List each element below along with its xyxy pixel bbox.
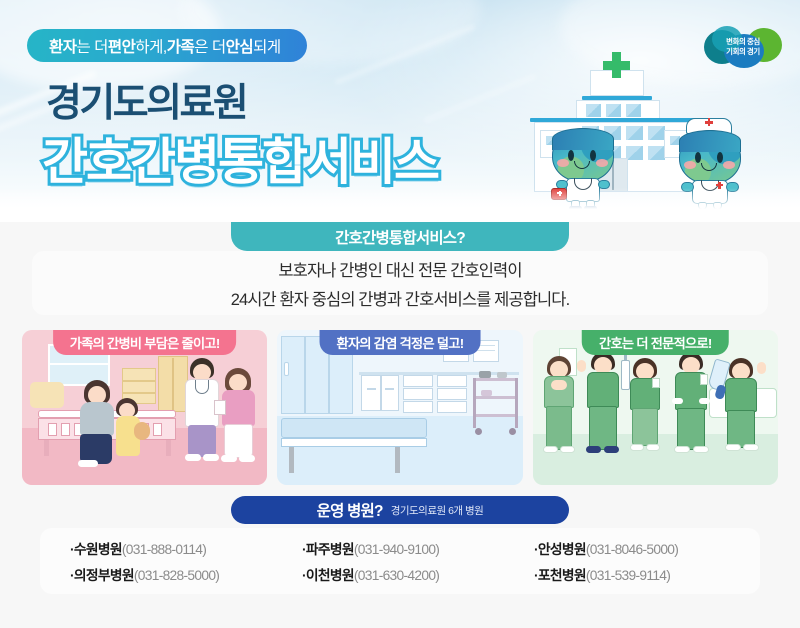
bed-rail-bar xyxy=(48,423,57,436)
description-line-2: 24시간 환자 중심의 간병과 간호서비스를 제공합니다. xyxy=(231,286,570,310)
hospital-column-1: ·수원병원(031-888-0114) ·의정부병원(031-828-5000) xyxy=(52,538,284,584)
tagline-seg-2: 는 더 xyxy=(77,35,108,57)
window-frame xyxy=(48,363,110,365)
bed-mattress xyxy=(281,418,427,438)
cart-item xyxy=(479,371,491,378)
tagline-seg-3: 편안 xyxy=(108,35,136,57)
benefit-panel-infection: 환자의 감염 걱정은 덜고! xyxy=(277,330,522,485)
cabinet-handle xyxy=(367,388,376,390)
panel-caption-professional: 간호는 더 전문적으로! xyxy=(582,330,729,355)
benefit-panels: 가족의 간병비 부담은 줄이고! xyxy=(22,330,778,485)
cabinet-handle xyxy=(385,388,394,390)
mother-shoe xyxy=(78,460,98,467)
hospital-phone: (031-828-5000) xyxy=(134,568,219,583)
service-description: 보호자나 간병인 대신 전문 간호인력이 24시간 환자 중심의 간병과 간호서… xyxy=(32,251,768,315)
mascot-eye xyxy=(695,152,701,163)
nurse-scrub-pants xyxy=(727,410,755,448)
hospital-list: ·수원병원(031-888-0114) ·의정부병원(031-828-5000)… xyxy=(40,528,760,594)
benefit-panel-professional: 간호는 더 전문적으로! xyxy=(533,330,778,485)
hospital-name: ·이천병원 xyxy=(302,568,354,583)
panel-caption-infection: 환자의 감염 걱정은 덜고! xyxy=(320,330,481,355)
building-window xyxy=(606,104,621,117)
mother-body xyxy=(80,402,114,436)
hospitals-subtitle: 경기도의료원 6개 병원 xyxy=(391,503,484,518)
mascot-hair xyxy=(679,130,741,152)
cart-frame xyxy=(473,378,476,428)
mascot-eye xyxy=(717,152,723,163)
benefit-panel-cost: 가족의 간병비 부담은 줄이고! xyxy=(22,330,267,485)
nurse-shoe xyxy=(604,446,619,453)
mascot-hair xyxy=(552,128,614,150)
gyeonggi-province-logo: 변화의 중심 기회의 경기 xyxy=(704,24,782,70)
nurse-shoe xyxy=(543,446,558,453)
nurse-shoe xyxy=(586,446,601,453)
tagline-seg-4: 하게, xyxy=(135,35,166,57)
nurse-face xyxy=(229,374,247,391)
nurse-shoe xyxy=(239,455,255,462)
hero-banner: 환자는 더 편안하게, 가족은 더 안심되게 경기도의료원 간호간병통합서비스 … xyxy=(0,0,800,222)
tagline-seg-8: 되게 xyxy=(253,35,281,57)
bed-leg xyxy=(289,447,294,473)
nurse-scrub-top xyxy=(587,372,619,408)
cart-shelf xyxy=(473,414,517,417)
mascot-cheek xyxy=(684,161,696,169)
window-handle xyxy=(284,362,289,376)
tagline-seg-6: 은 더 xyxy=(194,35,225,57)
mascot-eye xyxy=(568,150,574,161)
cart-item xyxy=(481,390,492,396)
clipboard xyxy=(214,400,226,415)
logo-text: 변화의 중심 기회의 경기 xyxy=(704,24,782,70)
cabinet-line xyxy=(122,392,156,394)
hospitals-title: 운영 병원? xyxy=(317,499,383,521)
doctor-pants xyxy=(188,425,216,457)
mascot-eye xyxy=(590,150,596,161)
nurse-shoe xyxy=(725,444,741,451)
doctor-shoe xyxy=(203,454,219,461)
nurse-hands xyxy=(551,380,567,390)
bed-rail-bar xyxy=(61,423,70,436)
doctor-shoe xyxy=(185,454,201,461)
nurse-scrub-pants xyxy=(589,406,617,450)
description-line-1: 보호자나 간병인 대신 전문 간호인력이 xyxy=(278,257,521,281)
green-cross-icon xyxy=(603,61,630,70)
cart-shelf xyxy=(473,378,517,381)
logo-line-2: 기회의 경기 xyxy=(726,48,760,57)
list-item[interactable]: ·안성병원(031-8046-5000) xyxy=(534,538,748,558)
nurse-scrub-pants xyxy=(677,408,705,450)
nurse-shoe xyxy=(693,446,709,453)
wrist-cuff xyxy=(699,398,710,404)
bed-base xyxy=(281,438,427,447)
operating-hospitals-badge: 운영 병원? 경기도의료원 6개 병원 xyxy=(231,496,569,524)
nurse-shoe xyxy=(560,446,575,453)
nurse-shoe xyxy=(674,446,690,453)
mascot-cheek xyxy=(596,159,608,167)
wrist-cuff xyxy=(672,398,683,404)
hospital-phone: (031-940-9100) xyxy=(354,542,439,557)
organization-name: 경기도의료원 xyxy=(46,72,246,128)
drawer xyxy=(403,388,433,400)
chart-line xyxy=(477,350,495,351)
locker-seam xyxy=(172,358,174,410)
nurse-raised-hand xyxy=(577,360,586,372)
panel-caption-cost: 가족의 간병비 부담은 줄이고! xyxy=(53,330,237,355)
mascot-cheek xyxy=(723,161,735,169)
cart-frame xyxy=(515,378,518,428)
name-badge xyxy=(652,378,660,388)
nurse-raised-hand xyxy=(757,362,766,374)
building-window xyxy=(648,146,665,160)
teddy-bear xyxy=(134,422,150,440)
cabinet-line xyxy=(122,380,156,382)
hospital-column-2: ·파주병원(031-940-9100) ·이천병원(031-630-4200) xyxy=(284,538,516,584)
hospital-phone: (031-630-4200) xyxy=(354,568,439,583)
drawer xyxy=(437,388,467,400)
drawer xyxy=(437,375,467,387)
hospital-name: ·안성병원 xyxy=(534,542,586,557)
nurse-shoe xyxy=(630,444,644,451)
tagline-pill: 환자는 더 편안하게, 가족은 더 안심되게 xyxy=(27,29,307,62)
building-window xyxy=(648,126,665,140)
list-item[interactable]: ·이천병원(031-630-4200) xyxy=(302,564,516,584)
cart-item xyxy=(497,372,507,378)
nurse-scrub-pants xyxy=(546,406,572,450)
building-window xyxy=(626,104,641,117)
nurse-skirt xyxy=(632,408,658,446)
building-window xyxy=(586,104,601,117)
syringe-icon xyxy=(621,360,630,390)
mascot-cheek xyxy=(557,159,569,167)
nurse-shoe xyxy=(221,455,237,462)
bed-leg xyxy=(44,440,49,456)
list-item[interactable]: ·파주병원(031-940-9100) xyxy=(302,538,516,558)
page-title: 간호간병통합서비스 xyxy=(42,122,438,194)
hospital-phone: (031-8046-5000) xyxy=(586,542,678,557)
drawer xyxy=(403,375,433,387)
service-question-badge: 간호간병통합서비스? xyxy=(231,222,569,251)
hospital-name: ·포천병원 xyxy=(534,568,586,583)
building-window xyxy=(626,126,643,140)
hospital-phone: (031-888-0114) xyxy=(122,542,206,557)
list-item[interactable]: ·의정부병원(031-828-5000) xyxy=(70,564,284,584)
list-item[interactable]: ·포천병원(031-539-9114) xyxy=(534,564,748,584)
hospital-name: ·파주병원 xyxy=(302,542,354,557)
nurse-shoe xyxy=(646,444,660,451)
logo-line-1: 변화의 중심 xyxy=(726,38,760,47)
tagline-seg-1: 환자 xyxy=(49,35,77,57)
hospital-phone: (031-539-9114) xyxy=(586,568,670,583)
drawer xyxy=(403,401,433,413)
nurse-shoe xyxy=(743,444,759,451)
hospital-name: ·수원병원 xyxy=(70,542,122,557)
sofa xyxy=(30,382,64,408)
hospital-column-3: ·안성병원(031-8046-5000) ·포천병원(031-539-9114) xyxy=(516,538,748,584)
list-item[interactable]: ·수원병원(031-888-0114) xyxy=(70,538,284,558)
tagline-seg-5: 가족 xyxy=(167,35,195,57)
window-mullion xyxy=(304,336,306,414)
nurse-scrub-top xyxy=(725,378,757,412)
cabinet-seam xyxy=(380,375,382,411)
name-badge xyxy=(700,374,708,385)
cap-cross xyxy=(708,118,711,126)
bed-rail-bar xyxy=(153,423,162,436)
cart-shelf xyxy=(473,396,517,399)
building-window xyxy=(626,146,643,160)
bed-leg xyxy=(166,440,171,456)
nurse-top xyxy=(222,390,255,426)
nurse-pants xyxy=(224,424,253,458)
stethoscope-icon xyxy=(195,380,209,394)
hospital-name: ·의정부병원 xyxy=(70,568,134,583)
drawer xyxy=(437,401,467,413)
tagline-seg-7: 안심 xyxy=(226,35,254,57)
bed-leg xyxy=(395,447,400,473)
